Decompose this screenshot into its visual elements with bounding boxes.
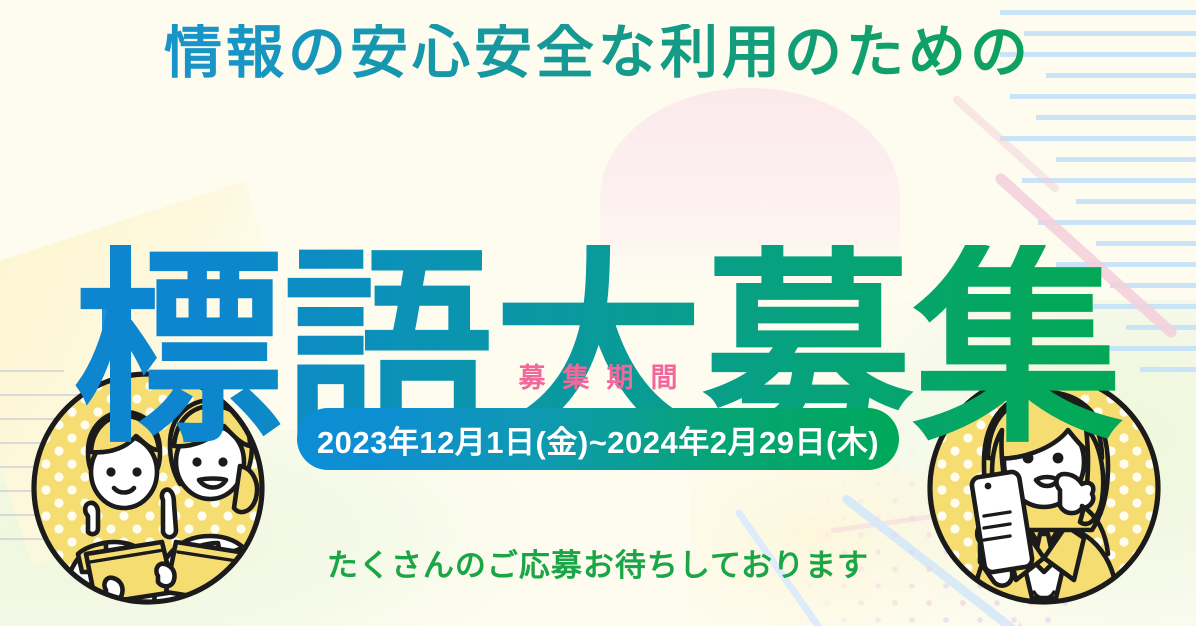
blue-rule-line (1038, 220, 1196, 225)
blue-rule-line (1000, 10, 1196, 15)
footer-message: たくさんのご応募お待ちしております (0, 540, 1196, 585)
promo-banner: 情報の安心安全な利用のための 標語大募集 募集期間 2023年12月1日(金)~… (0, 0, 1196, 626)
pink-diagonal-stroke-decoration (951, 94, 1060, 194)
application-period-pill: 2023年12月1日(金)~2024年2月29日(木) (297, 408, 899, 470)
headline-text: 情報の安心安全な利用のための (0, 24, 1196, 82)
application-period-label: 募集期間 (0, 356, 1196, 395)
blue-rule-line (1076, 199, 1196, 204)
blue-rule-line (1036, 115, 1196, 120)
blue-rule-line (1022, 178, 1196, 183)
blue-rule-line (1056, 157, 1196, 162)
lilac-triangle-decoration (994, 622, 1046, 626)
blue-rule-line (1000, 136, 1196, 141)
application-period-value: 2023年12月1日(金)~2024年2月29日(木) (317, 417, 879, 462)
blue-rule-line (1010, 94, 1196, 99)
